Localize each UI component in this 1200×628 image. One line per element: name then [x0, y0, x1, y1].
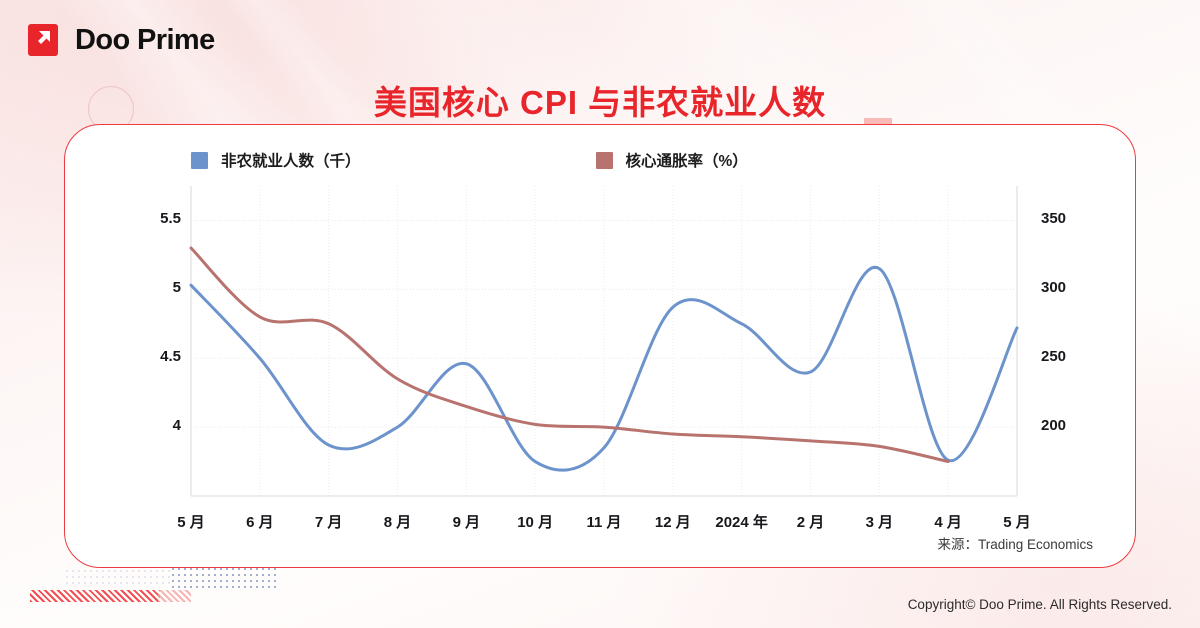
brand-logo: Doo Prime — [28, 22, 215, 58]
y-axis-right-tick: 350 — [1041, 210, 1066, 227]
x-axis-tick: 5 月 — [972, 511, 1062, 532]
page-title: 美国核心 CPI 与非农就业人数 — [0, 76, 1200, 124]
stripe-pattern-decoration — [30, 590, 160, 602]
y-axis-right-tick: 200 — [1041, 417, 1066, 434]
stripe-pattern-decoration-light — [158, 590, 191, 602]
chart-source: 来源：Trading Economics — [937, 533, 1093, 553]
y-axis-left-tick: 4 — [135, 417, 181, 434]
y-axis-right-tick: 300 — [1041, 279, 1066, 296]
y-axis-left-tick: 4.5 — [135, 348, 181, 365]
dot-pattern-decoration — [170, 566, 280, 592]
y-axis-right-tick: 250 — [1041, 348, 1066, 365]
y-axis-left-tick: 5 — [135, 279, 181, 296]
copyright-text: Copyright© Doo Prime. All Rights Reserve… — [908, 597, 1172, 612]
brand-name: Doo Prime — [75, 24, 215, 57]
chart-card: 非农就业人数（千） 核心通胀率（%） 5.554.543503002502005… — [64, 124, 1136, 568]
y-axis-left-tick: 5.5 — [135, 210, 181, 227]
dot-pattern-decoration-faded — [64, 568, 174, 586]
chart-plot-area: 5.554.543503002502005 月6 月7 月8 月9 月10 月1… — [65, 125, 1137, 569]
doo-prime-logo-icon — [28, 22, 64, 58]
chart-svg — [65, 125, 1137, 569]
